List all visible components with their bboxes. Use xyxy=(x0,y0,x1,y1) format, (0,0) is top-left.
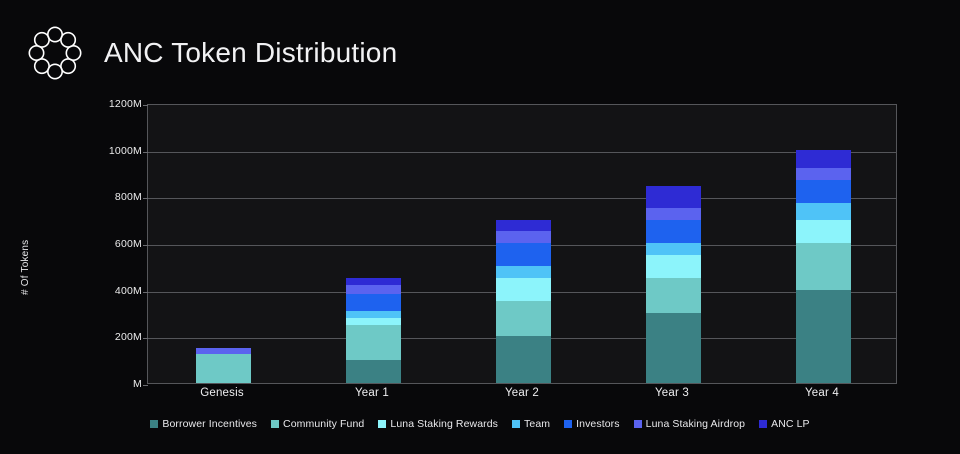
legend-label: Borrower Incentives xyxy=(162,418,257,430)
x-axis-tick-label: Year 1 xyxy=(317,387,427,399)
legend-item-investors[interactable]: Investors xyxy=(564,418,620,430)
legend-swatch xyxy=(564,420,572,428)
x-axis-tick-label: Year 2 xyxy=(467,387,577,399)
bar-segment[interactable] xyxy=(646,220,701,243)
y-axis-tick-label: 800M xyxy=(115,192,142,203)
bar-year-4[interactable] xyxy=(796,150,851,383)
legend-swatch xyxy=(512,420,520,428)
axis-tick xyxy=(143,105,148,106)
legend-item-borrower-incentives[interactable]: Borrower Incentives xyxy=(150,418,257,430)
axis-tick xyxy=(143,198,148,199)
bar-segment[interactable] xyxy=(496,220,551,232)
gridline xyxy=(148,198,896,199)
legend-item-community-fund[interactable]: Community Fund xyxy=(271,418,364,430)
y-axis-tick-label: M xyxy=(133,379,142,390)
bar-segment[interactable] xyxy=(646,243,701,255)
bar-year-2[interactable] xyxy=(496,220,551,383)
axis-tick xyxy=(143,152,148,153)
y-axis-tick-labels: 1200M1000M800M600M400M200MM xyxy=(86,95,142,395)
y-axis-tick-label: 600M xyxy=(115,239,142,250)
legend-item-anc-lp[interactable]: ANC LP xyxy=(759,418,810,430)
bar-segment[interactable] xyxy=(496,266,551,278)
bar-segment[interactable] xyxy=(196,348,251,354)
legend-label: ANC LP xyxy=(771,418,810,430)
bar-segment[interactable] xyxy=(346,285,401,294)
bar-segment[interactable] xyxy=(346,325,401,360)
x-axis-tick-label: Year 3 xyxy=(617,387,727,399)
bar-segment[interactable] xyxy=(796,220,851,243)
y-axis-tick-label: 400M xyxy=(115,286,142,297)
bar-segment[interactable] xyxy=(646,313,701,383)
bar-segment[interactable] xyxy=(346,294,401,310)
axis-tick xyxy=(143,245,148,246)
bar-year-3[interactable] xyxy=(646,186,701,383)
axis-tick xyxy=(143,338,148,339)
legend-swatch xyxy=(271,420,279,428)
bar-year-1[interactable] xyxy=(346,278,401,383)
legend-swatch xyxy=(150,420,158,428)
bar-segment[interactable] xyxy=(796,150,851,169)
bar-segment[interactable] xyxy=(346,278,401,285)
legend-swatch xyxy=(759,420,767,428)
plot-area xyxy=(147,104,897,384)
legend-item-luna-staking-airdrop[interactable]: Luna Staking Airdrop xyxy=(634,418,745,430)
bar-segment[interactable] xyxy=(796,180,851,203)
chart-container: # Of Tokens 1200M1000M800M600M400M200MM … xyxy=(0,95,960,395)
legend-label: Luna Staking Airdrop xyxy=(646,418,745,430)
legend-item-luna-staking-rewards[interactable]: Luna Staking Rewards xyxy=(378,418,498,430)
legend-label: Team xyxy=(524,418,550,430)
y-axis-title: # Of Tokens xyxy=(20,240,31,295)
legend-item-team[interactable]: Team xyxy=(512,418,550,430)
bar-segment[interactable] xyxy=(646,255,701,278)
bar-segment[interactable] xyxy=(646,208,701,220)
legend-swatch xyxy=(634,420,642,428)
bar-segment[interactable] xyxy=(646,278,701,313)
x-axis-tick-label: Genesis xyxy=(167,387,277,399)
bar-segment[interactable] xyxy=(796,243,851,290)
bar-genesis[interactable] xyxy=(196,348,251,383)
axis-tick xyxy=(143,292,148,293)
bar-segment[interactable] xyxy=(346,360,401,383)
bar-segment[interactable] xyxy=(496,278,551,301)
y-axis-tick-label: 1000M xyxy=(109,146,142,157)
bar-segment[interactable] xyxy=(496,231,551,243)
legend-label: Luna Staking Rewards xyxy=(390,418,498,430)
legend-label: Community Fund xyxy=(283,418,364,430)
anchor-protocol-ring-logo-icon xyxy=(24,22,86,84)
bar-segment[interactable] xyxy=(796,168,851,180)
y-axis-tick-label: 1200M xyxy=(109,99,142,110)
bar-segment[interactable] xyxy=(496,301,551,336)
bar-segment[interactable] xyxy=(346,318,401,325)
bar-segment[interactable] xyxy=(496,243,551,266)
chart-legend: Borrower IncentivesCommunity FundLuna St… xyxy=(0,418,960,430)
legend-swatch xyxy=(378,420,386,428)
bar-segment[interactable] xyxy=(796,203,851,219)
gridline xyxy=(148,152,896,153)
page-title: ANC Token Distribution xyxy=(104,37,397,69)
bar-segment[interactable] xyxy=(796,290,851,383)
legend-label: Investors xyxy=(576,418,620,430)
bar-segment[interactable] xyxy=(196,354,251,383)
y-axis-tick-label: 200M xyxy=(115,332,142,343)
chart-page: ANC Token Distribution # Of Tokens 1200M… xyxy=(0,0,960,454)
x-axis-tick-labels: GenesisYear 1Year 2Year 3Year 4 xyxy=(147,387,897,409)
bar-segment[interactable] xyxy=(646,186,701,208)
bar-segment[interactable] xyxy=(496,336,551,383)
axis-tick xyxy=(143,385,148,386)
page-header: ANC Token Distribution xyxy=(24,22,397,84)
bar-segment[interactable] xyxy=(346,311,401,318)
x-axis-tick-label: Year 4 xyxy=(767,387,877,399)
